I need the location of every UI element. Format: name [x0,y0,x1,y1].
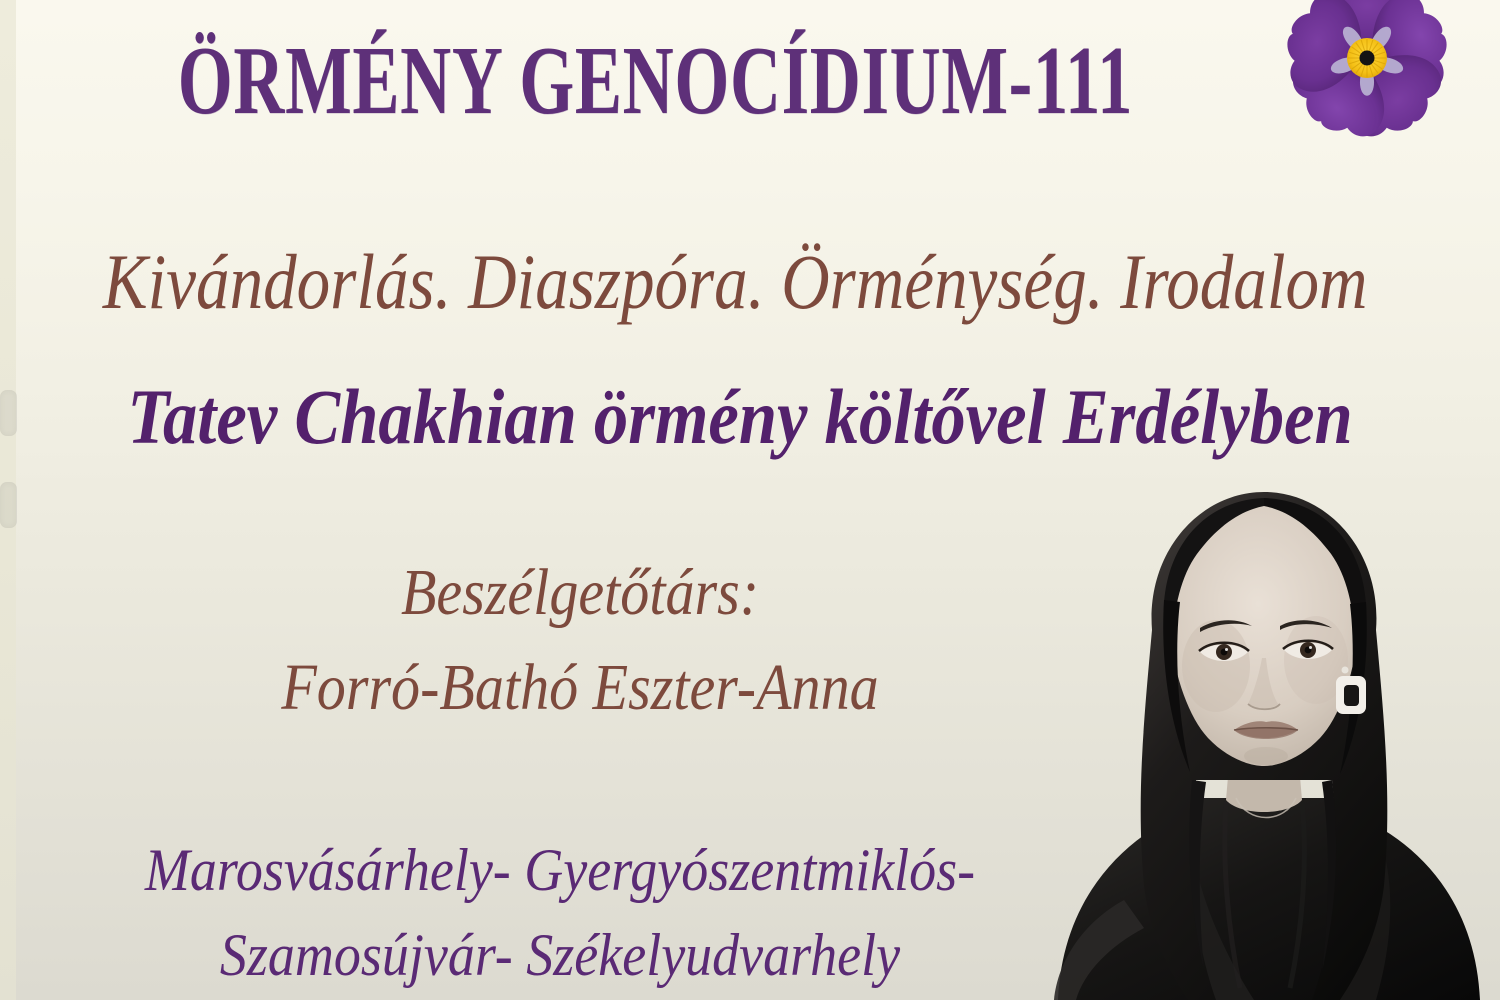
venue-line-1: Marosvásárhely- Gyergyószentmiklós- [56,828,1064,913]
poster-subtitle: Kivándorlás. Diaszpóra. Örménység. Iroda… [103,243,1367,321]
page-title: ÖRMÉNY GENOCÍDIUM-111 [178,32,1092,130]
venue-line-2: Szamosújvár- Székelyudvarhely [56,913,1064,998]
forget-me-not-icon [1272,0,1462,146]
venue-list: Marosvásárhely- Gyergyószentmiklós- Szam… [56,828,1064,998]
speaker-portrait-photo [1040,480,1490,1000]
poster-canvas: ÖRMÉNY GENOCÍDIUM-111 Kivándorlás. Diasz… [0,0,1500,1000]
moderator-name: Forró-Bathó Eszter-Anna [70,655,1091,721]
rail-ghost-marker-2 [0,482,17,528]
rail-ghost-marker-1 [0,390,17,436]
poster-headline: Tatev Chakhian örmény költővel Erdélyben [89,378,1391,456]
moderator-label: Beszélgetőtárs: [70,560,1091,626]
